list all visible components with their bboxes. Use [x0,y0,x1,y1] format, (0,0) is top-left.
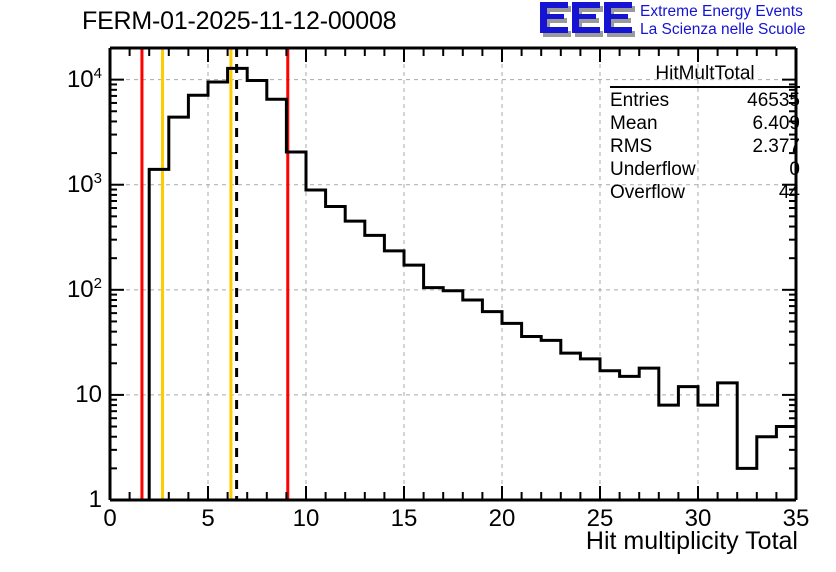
y-tick-label: 10 [34,382,102,408]
x-tick-label: 35 [783,506,810,532]
x-tick-label: 10 [293,506,320,532]
stats-row-value: 0 [789,158,800,181]
stats-row-value: 44 [779,181,800,204]
stats-row: Entries46535 [610,89,800,112]
stats-box-title: HitMultTotal [610,62,800,88]
stats-row-value: 46535 [747,89,800,112]
stats-row-label: Overflow [610,181,685,204]
stats-row-value: 6.409 [752,112,800,135]
stats-row-label: RMS [610,135,652,158]
x-tick-label: 5 [201,506,214,532]
stats-row-value: 2.377 [752,135,800,158]
eee-logo-line1: Extreme Energy Events [640,3,836,21]
stats-box: HitMultTotal Entries46535Mean6.409RMS2.3… [610,62,800,204]
stats-rows: Entries46535Mean6.409RMS2.377Underflow0O… [610,89,800,204]
x-tick-label: 0 [103,506,116,532]
stats-row: Overflow44 [610,181,800,204]
x-tick-label: 15 [391,506,418,532]
marker-lines-layer [142,48,288,500]
stats-row-label: Underflow [610,158,696,181]
eee-logo: Extreme Energy Events La Scienza nelle S… [540,2,836,42]
stats-row: RMS2.377 [610,135,800,158]
x-tick-label: 30 [685,506,712,532]
x-tick-label: 20 [489,506,516,532]
stats-row-label: Mean [610,112,658,135]
y-tick-label: 1 [34,487,102,513]
stats-row: Underflow0 [610,158,800,181]
y-tick-label: 102 [34,277,102,303]
stats-row: Mean6.409 [610,112,800,135]
eee-logo-line2: La Scienza nelle Scuole [640,21,836,39]
y-tick-label: 103 [34,172,102,198]
y-tick-label: 104 [34,67,102,93]
eee-logo-mark [540,2,636,38]
page-title: FERM-01-2025-11-12-00008 [82,6,396,36]
stats-row-label: Entries [610,89,669,112]
eee-logo-letters [540,2,632,33]
x-tick-label: 25 [587,506,614,532]
eee-logo-text: Extreme Energy Events La Scienza nelle S… [640,3,836,39]
